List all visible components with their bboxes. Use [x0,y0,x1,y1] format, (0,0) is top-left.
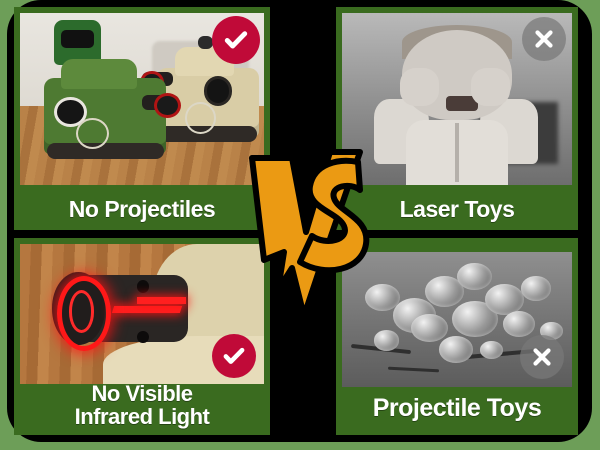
panel-bottom-left-caption: No Visible Infrared Light [14,383,270,428]
panel-top-left: No Projectiles [14,7,270,230]
panel-bottom-left-photo [20,244,264,384]
vs-badge: VS [234,140,370,316]
panel-bottom-right: Projectile Toys [336,238,578,435]
panel-bottom-right-photo [342,252,572,387]
panel-bottom-left: No Visible Infrared Light [14,238,270,435]
close-icon [520,335,564,379]
close-icon [522,17,566,61]
panel-bottom-right-caption: Projectile Toys [336,396,578,422]
panel-top-left-caption: No Projectiles [14,198,270,221]
panel-top-right-caption: Laser Toys [336,198,578,221]
infographic-canvas: No Projectiles Laser Toys [0,0,600,450]
caption-line-1: No Visible [14,383,270,405]
panel-top-right: Laser Toys [336,7,578,230]
check-icon [212,16,260,64]
caption-line-2: Infrared Light [14,406,270,428]
check-icon [212,334,256,378]
